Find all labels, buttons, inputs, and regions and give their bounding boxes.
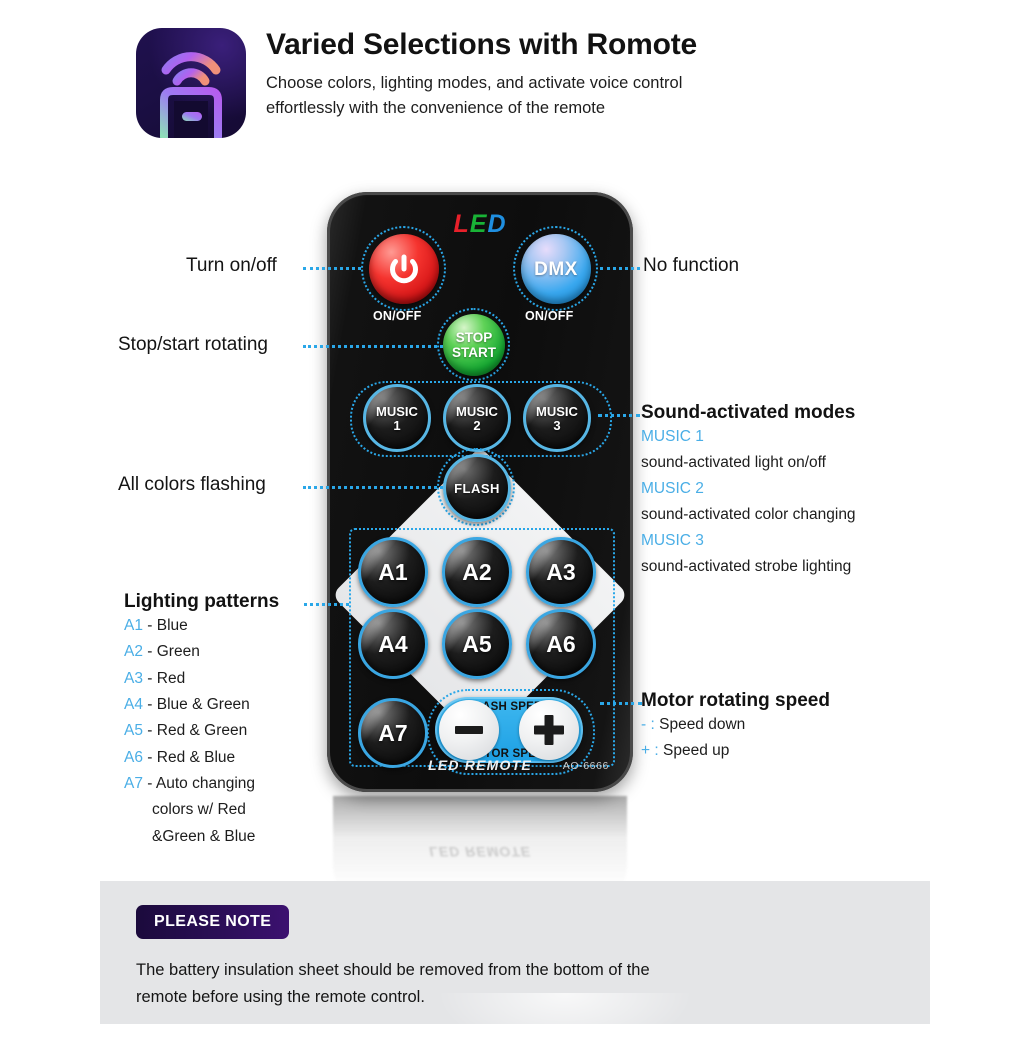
pattern-code-a2: A2 <box>124 643 143 660</box>
annotation-lighting-patterns: Lighting patterns A1 - Blue A2 - Green A… <box>124 591 279 850</box>
pattern-code-a4: A4 <box>124 696 143 713</box>
pattern-code-a7: A7 <box>124 775 143 792</box>
remote-signal-icon <box>136 28 246 138</box>
pattern-row-a2: A2 - Green <box>124 639 279 665</box>
sound-mode-desc-music-3: sound-activated strobe lighting <box>641 554 856 580</box>
remote-body: LED ON/OFF DMX ON/OFF STOP START MUSIC 1 <box>327 192 633 792</box>
pattern-row-a7: A7 - Auto changing <box>124 771 279 797</box>
header-text-block: Varied Selections with Romote Choose col… <box>266 28 936 121</box>
pattern-desc-a7: - Auto changing <box>147 775 255 792</box>
pattern-code-a5: A5 <box>124 722 143 739</box>
pattern-button-a6[interactable]: A6 <box>526 609 596 679</box>
pattern-a7-continuation-1: colors w/ Red <box>124 797 279 823</box>
dmx-button-label: ON/OFF <box>525 309 573 323</box>
connector-turn-on-off <box>303 267 361 270</box>
remote-control-illustration: LED REMOTE LED ON/OFF DMX ON/OFF STOP ST… <box>327 192 633 792</box>
annotation-no-function: No function <box>643 255 739 277</box>
remote-model-number: AO-6666 <box>563 760 609 772</box>
dmx-button[interactable]: DMX <box>521 234 591 304</box>
led-logo: LED <box>327 210 633 239</box>
music-2-line-2: 2 <box>473 419 480 432</box>
annotation-turn-on-off-label: Turn on/off <box>186 255 277 277</box>
pattern-a7-continuation-2: &Green & Blue <box>124 824 279 850</box>
pattern-code-a3: A3 <box>124 670 143 687</box>
please-note-badge: PLEASE NOTE <box>136 905 289 939</box>
pattern-button-a3[interactable]: A3 <box>526 537 596 607</box>
pattern-desc-a3: - Red <box>147 670 185 687</box>
music-1-button[interactable]: MUSIC 1 <box>363 384 431 452</box>
motor-speed-symbol-plus: + <box>641 742 650 759</box>
motor-speed-title: Motor rotating speed <box>641 690 830 712</box>
please-note-section: PLEASE NOTE The battery insulation sheet… <box>100 881 930 1024</box>
pattern-row-a3: A3 - Red <box>124 666 279 692</box>
motor-speed-desc-up: Speed up <box>663 742 729 759</box>
sound-mode-key-music-2: MUSIC 2 <box>641 476 856 502</box>
speed-up-button[interactable] <box>519 700 579 760</box>
music-2-button[interactable]: MUSIC 2 <box>443 384 511 452</box>
motor-speed-sep-1: : <box>650 716 654 733</box>
sound-mode-desc-music-1: sound-activated light on/off <box>641 450 856 476</box>
music-3-line-2: 3 <box>553 419 560 432</box>
connector-motor-speed <box>600 702 642 705</box>
page-header: Varied Selections with Romote Choose col… <box>136 28 936 148</box>
led-logo-letter-e: E <box>470 210 488 238</box>
pattern-desc-a6: - Red & Blue <box>147 749 235 766</box>
annotation-stop-start-label: Stop/start rotating <box>118 334 268 356</box>
annotation-motor-rotating-speed: Motor rotating speed - : Speed down + : … <box>641 690 830 764</box>
annotation-all-colors-label: All colors flashing <box>118 474 266 496</box>
motor-speed-row-down: - : Speed down <box>641 712 830 738</box>
power-button-label: ON/OFF <box>373 309 421 323</box>
sound-mode-desc-music-2: sound-activated color changing <box>641 502 856 528</box>
music-2-line-1: MUSIC <box>456 405 498 418</box>
motor-speed-sep-2: : <box>654 742 658 759</box>
stop-start-line-2: START <box>452 346 496 360</box>
annotation-no-function-label: No function <box>643 255 739 277</box>
annotation-all-colors-flashing: All colors flashing <box>118 474 266 496</box>
speed-down-button[interactable] <box>439 700 499 760</box>
flash-button[interactable]: FLASH <box>443 454 511 522</box>
motor-speed-desc-down: Speed down <box>659 716 745 733</box>
minus-icon <box>455 726 483 734</box>
connector-no-function <box>600 267 640 270</box>
music-3-line-1: MUSIC <box>536 405 578 418</box>
annotation-sound-activated-modes: Sound-activated modes MUSIC 1 sound-acti… <box>641 402 856 580</box>
page-subtitle-line-1: Choose colors, lighting modes, and activ… <box>266 71 936 96</box>
pattern-row-a1: A1 - Blue <box>124 613 279 639</box>
pattern-row-a6: A6 - Red & Blue <box>124 745 279 771</box>
motor-speed-symbol-minus: - <box>641 716 646 733</box>
pattern-code-a6: A6 <box>124 749 143 766</box>
pattern-row-a4: A4 - Blue & Green <box>124 692 279 718</box>
please-note-body: The battery insulation sheet should be r… <box>136 957 896 1010</box>
stop-start-button[interactable]: STOP START <box>443 314 505 376</box>
led-logo-letter-d: D <box>487 210 506 238</box>
sound-mode-key-music-3: MUSIC 3 <box>641 528 856 554</box>
led-logo-letter-l: L <box>453 210 469 238</box>
pattern-row-a5: A5 - Red & Green <box>124 718 279 744</box>
annotation-turn-on-off: Turn on/off <box>186 255 277 277</box>
sound-modes-title: Sound-activated modes <box>641 402 856 424</box>
music-3-button[interactable]: MUSIC 3 <box>523 384 591 452</box>
speed-control-pad: FLASH SPEED MOTOR SPEED <box>435 697 583 763</box>
lighting-patterns-title: Lighting patterns <box>124 591 279 613</box>
pattern-desc-a1: - Blue <box>147 617 188 634</box>
pattern-button-a1[interactable]: A1 <box>358 537 428 607</box>
sound-mode-key-music-1: MUSIC 1 <box>641 424 856 450</box>
stop-start-line-1: STOP <box>456 331 493 345</box>
please-note-line-2: remote before using the remote control. <box>136 984 896 1011</box>
connector-lighting-patterns <box>304 603 349 606</box>
page-subtitle-line-2: effortlessly with the convenience of the… <box>266 96 936 121</box>
annotation-stop-start-rotating: Stop/start rotating <box>118 334 268 356</box>
page-title: Varied Selections with Romote <box>266 28 936 61</box>
connector-stop-start <box>303 345 443 348</box>
plus-icon-vertical <box>545 715 554 745</box>
pattern-desc-a5: - Red & Green <box>147 722 247 739</box>
pattern-button-a2[interactable]: A2 <box>442 537 512 607</box>
music-1-line-1: MUSIC <box>376 405 418 418</box>
pattern-button-a4[interactable]: A4 <box>358 609 428 679</box>
connector-all-colors-flashing <box>303 486 443 489</box>
motor-speed-row-up: + : Speed up <box>641 738 830 764</box>
power-icon <box>386 251 422 287</box>
connector-sound-modes <box>598 414 640 417</box>
pattern-code-a1: A1 <box>124 617 143 634</box>
power-button[interactable] <box>369 234 439 304</box>
reflection-brand-text: LED REMOTE <box>333 844 627 860</box>
pattern-button-a5[interactable]: A5 <box>442 609 512 679</box>
music-1-line-2: 1 <box>393 419 400 432</box>
please-note-line-1: The battery insulation sheet should be r… <box>136 957 896 984</box>
pattern-desc-a4: - Blue & Green <box>147 696 250 713</box>
pattern-desc-a2: - Green <box>147 643 200 660</box>
